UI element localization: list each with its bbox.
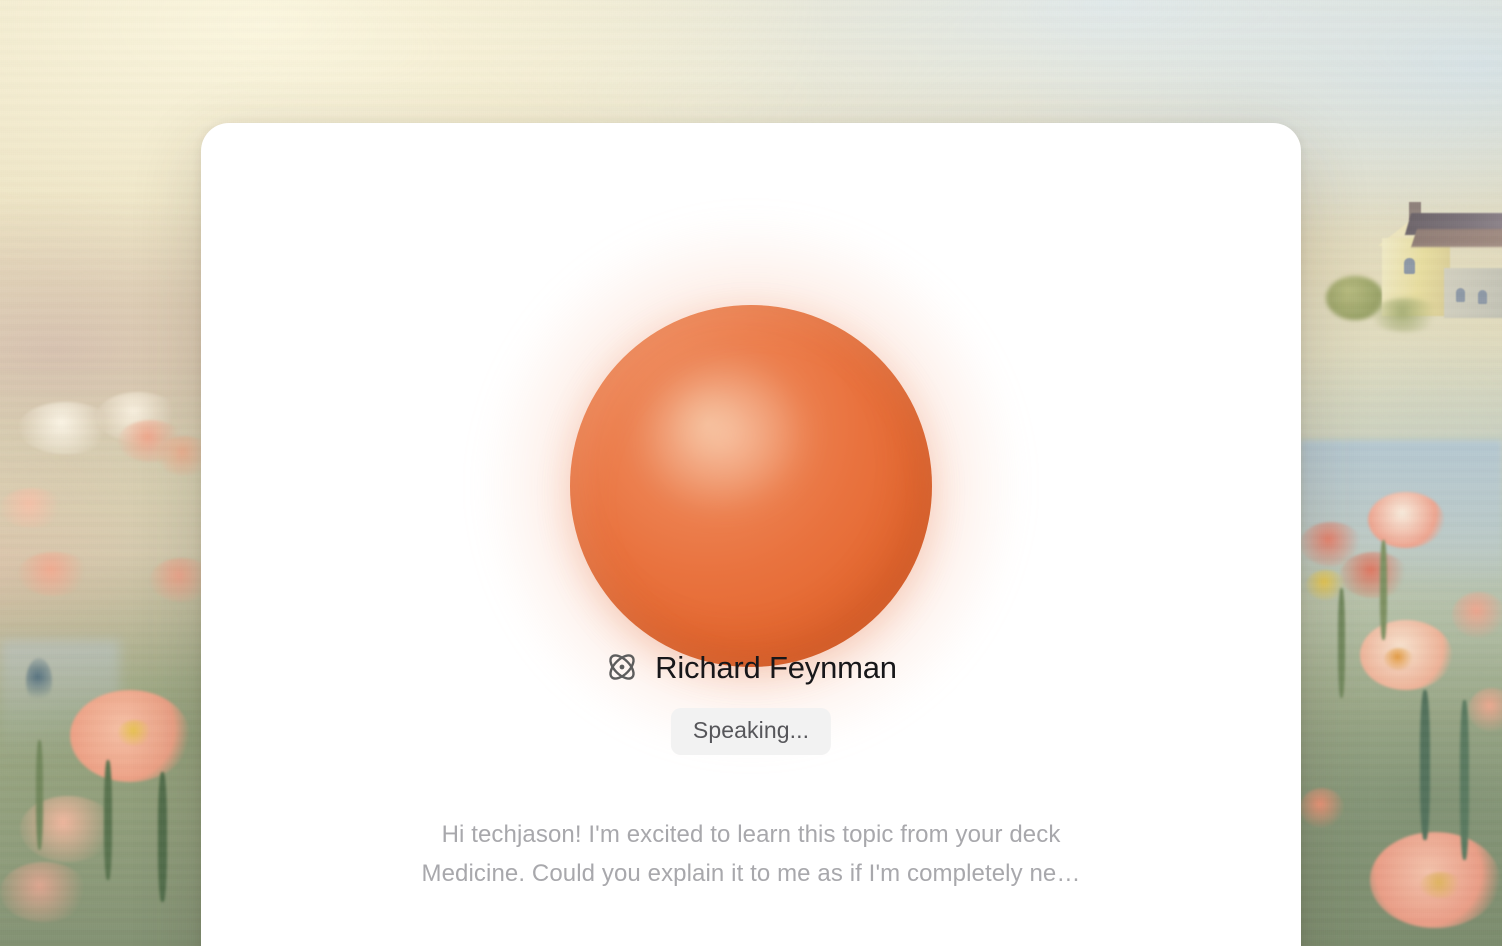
card-content: Richard Feynman Speaking... Hi techjason… — [201, 123, 1301, 946]
status-badge: Speaking... — [671, 708, 831, 755]
persona-header: Richard Feynman — [201, 650, 1301, 684]
atom-icon — [605, 650, 639, 684]
transcript-text: Hi techjason! I'm excited to learn this … — [391, 815, 1111, 893]
voice-orb[interactable] — [570, 305, 932, 667]
voice-chat-card: Richard Feynman Speaking... Hi techjason… — [201, 123, 1301, 946]
persona-name: Richard Feynman — [655, 652, 897, 683]
app-root: Richard Feynman Speaking... Hi techjason… — [0, 0, 1502, 946]
voice-orb-highlight — [650, 370, 817, 515]
